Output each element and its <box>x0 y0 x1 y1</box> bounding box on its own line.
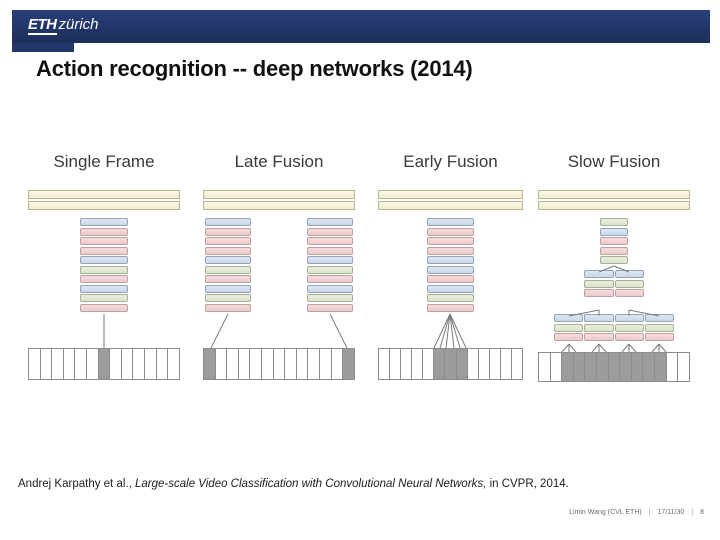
column-early-fusion: Early Fusion <box>378 152 523 402</box>
video-frame <box>133 349 145 379</box>
video-frame <box>308 349 320 379</box>
video-frame <box>274 349 286 379</box>
footer-separator: | <box>691 509 693 516</box>
column-late-fusion: Late Fusion <box>203 152 355 402</box>
video-frame <box>250 349 262 379</box>
video-frame <box>490 349 501 379</box>
footer-separator: | <box>649 509 651 516</box>
frame-strip-early-fusion <box>378 348 523 380</box>
video-frame <box>423 349 434 379</box>
video-frame <box>52 349 64 379</box>
video-frame <box>539 353 551 381</box>
video-frame-highlighted <box>204 349 216 379</box>
video-frame-highlighted <box>343 349 354 379</box>
video-frame <box>412 349 423 379</box>
citation-authors: Andrej Karpathy et al., <box>18 478 132 490</box>
citation-venue: in CVPR, 2014. <box>490 478 569 490</box>
video-frame <box>285 349 297 379</box>
column-single-frame: Single Frame <box>28 152 180 402</box>
column-slow-fusion: Slow Fusion <box>538 152 690 402</box>
eth-header-bar: ETHzürich <box>12 10 710 43</box>
video-frame <box>468 349 479 379</box>
frame-strip-slow-fusion <box>538 352 690 382</box>
video-frame <box>157 349 169 379</box>
video-frame-highlighted <box>620 353 632 381</box>
video-frame <box>64 349 76 379</box>
video-frame-highlighted <box>562 353 574 381</box>
eth-zurich-logo: ETHzürich <box>28 16 99 33</box>
citation-line: Andrej Karpathy et al., Large-scale Vide… <box>18 478 708 490</box>
video-frame <box>87 349 99 379</box>
video-frame <box>216 349 228 379</box>
video-frame <box>320 349 332 379</box>
video-frame <box>239 349 251 379</box>
video-frame-highlighted <box>632 353 644 381</box>
video-frame-highlighted <box>643 353 655 381</box>
footer-author: Limin Wang (CVL ETH) <box>569 509 642 516</box>
eth-logo-text: ETH <box>28 16 57 35</box>
video-frame-highlighted <box>597 353 609 381</box>
video-frame-highlighted <box>574 353 586 381</box>
video-frame <box>110 349 122 379</box>
video-frame <box>512 349 522 379</box>
slide-footer: Limin Wang (CVL ETH) | 17/11/30 | 8 <box>569 509 704 516</box>
zurich-logo-text: zürich <box>59 16 99 33</box>
video-frame <box>379 349 390 379</box>
page-title: Action recognition -- deep networks (201… <box>36 56 696 82</box>
video-frame-highlighted <box>434 349 445 379</box>
video-frame <box>297 349 309 379</box>
video-frame <box>29 349 41 379</box>
video-frame <box>75 349 87 379</box>
frame-strip-single-frame <box>28 348 180 380</box>
video-frame <box>262 349 274 379</box>
video-frame-highlighted <box>457 349 468 379</box>
frame-strip-late-fusion <box>203 348 355 380</box>
video-frame-highlighted <box>585 353 597 381</box>
video-frame-highlighted <box>99 349 111 379</box>
video-frame-highlighted <box>609 353 621 381</box>
video-frame <box>122 349 134 379</box>
video-frame <box>227 349 239 379</box>
video-frame <box>390 349 401 379</box>
video-frame <box>41 349 53 379</box>
video-frame <box>551 353 563 381</box>
architecture-figure: Single Frame <box>20 152 700 402</box>
video-frame <box>501 349 512 379</box>
video-frame <box>145 349 157 379</box>
video-frame <box>479 349 490 379</box>
video-frame <box>332 349 344 379</box>
video-frame <box>401 349 412 379</box>
video-frame <box>667 353 679 381</box>
footer-page-number: 8 <box>700 509 704 516</box>
video-frame-highlighted <box>655 353 667 381</box>
video-frame-highlighted <box>445 349 456 379</box>
video-frame <box>678 353 689 381</box>
video-frame <box>168 349 179 379</box>
header-accent-tab <box>12 43 74 52</box>
citation-paper-title: Large-scale Video Classification with Co… <box>135 478 486 490</box>
footer-date: 17/11/30 <box>658 509 685 516</box>
